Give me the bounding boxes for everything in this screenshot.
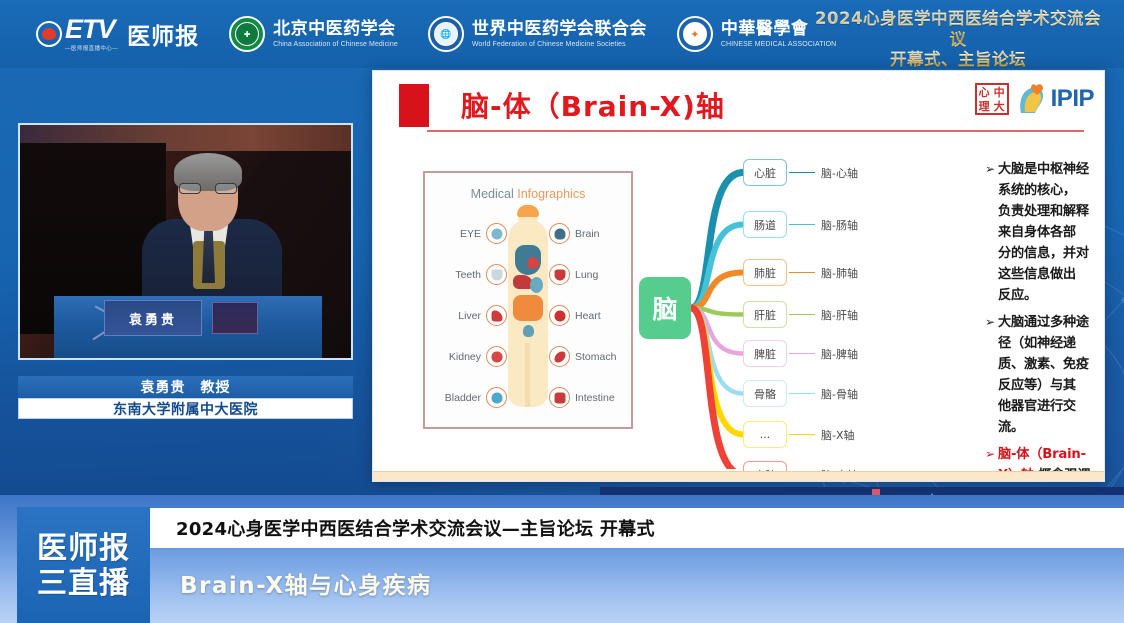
medical-infographic-card: Medical Infographics EYE Teeth Liver — [423, 171, 633, 429]
bullet-text: 大脑是中枢神经系统的核心，负责处理和解释来自身体各部分的信息，并对这些信息做出反… — [998, 159, 1101, 306]
event-title-bar: 2024心身医学中西医结合学术交流会议—主旨论坛 开幕式 — [150, 508, 1124, 548]
infographic-item-liver: Liver — [433, 295, 507, 336]
bullet-text: 大脑通过多种途径（如神经递质、激素、免疫反应等）与其他器官进行交流。 — [998, 312, 1101, 438]
mindmap-leaf-label-5: 脑-脾轴 — [821, 346, 858, 362]
mindmap-leaf-connector-4 — [789, 314, 815, 316]
mindmap-node-7: ... — [743, 421, 787, 448]
body-bladder — [523, 325, 534, 337]
body-heart — [527, 257, 539, 269]
infographic-item-kidney: Kidney — [433, 336, 507, 377]
infographic-left-column: EYE Teeth Liver Kidney — [433, 213, 507, 418]
bullet-line: 他器官进行交流。 — [998, 396, 1101, 438]
infographic-item-teeth: Teeth — [433, 254, 507, 295]
zhongda-psych-seal-icon: 心 中 理 大 — [975, 83, 1009, 115]
infographic-item-intestine: Intestine — [549, 377, 623, 418]
conference-title-line2: 开幕式、主旨论坛 — [808, 50, 1108, 71]
mindmap-leaf-connector-1 — [789, 172, 815, 174]
infographic-label: Heart — [575, 310, 601, 322]
body-hair — [517, 205, 539, 217]
presentation-slide[interactable]: 脑-体（Brain-X)轴 心 中 理 大 IPIP Medic — [372, 70, 1105, 482]
mindmap-leaf-label-6: 脑-骨轴 — [821, 386, 858, 402]
mindmap-leaf-connector-7 — [789, 434, 815, 436]
channel-badge-line1: 医师报 — [37, 533, 130, 565]
infographic-item-bladder: Bladder — [433, 377, 507, 418]
infographic-label: Bladder — [445, 392, 481, 404]
seal-char-3: 大 — [992, 99, 1007, 113]
slide-brand-logos: 心 中 理 大 IPIP — [975, 83, 1094, 115]
mindmap-leaf-label-2: 脑-肠轴 — [821, 217, 858, 233]
infographic-item-stomach: Stomach — [549, 336, 623, 377]
slide-bullet-list: ➢大脑是中枢神经系统的核心，负责处理和解释来自身体各部分的信息，并对这些信息做出… — [985, 159, 1101, 482]
etv-play-icon — [36, 21, 62, 47]
etv-chinese-name: 医师报 — [127, 17, 199, 51]
lectern-secondary-sign — [212, 302, 258, 334]
speaker-nameplate: 袁勇贵 教授 东南大学附属中大医院 — [18, 376, 353, 419]
slide-footer-bar — [373, 471, 1104, 481]
body-legs — [525, 343, 530, 407]
seal-char-1: 中 — [992, 85, 1007, 99]
mindmap-node-5: 脾脏 — [743, 340, 787, 367]
logo-wfcms: 🌐 世界中医药学会联合会 World Federation of Chinese… — [428, 16, 647, 52]
infographic-label: Lung — [575, 269, 598, 281]
beijing-tcm-seal-icon: ✚ — [229, 16, 265, 52]
event-title-text: 2024心身医学中西医结合学术交流会议—主旨论坛 开幕式 — [176, 515, 655, 541]
wfcms-seal-icon: 🌐 — [428, 16, 464, 52]
broadcast-lower-third: 医师报 三直播 2024心身医学中西医结合学术交流会议—主旨论坛 开幕式 Bra… — [0, 495, 1124, 623]
speaker-video[interactable]: 袁勇贵 — [18, 123, 353, 360]
speaker-affiliation: 东南大学附属中大医院 — [18, 398, 353, 419]
infographic-right-column: Brain Lung Heart Stomach — [549, 213, 623, 418]
talk-title-text: Brain-X轴与心身疾病 — [180, 566, 432, 600]
ipip-wordmark: IPIP — [1051, 85, 1094, 113]
bullet-line: 质、激素、免疫反应等）与其 — [998, 354, 1101, 396]
stomach-icon — [549, 346, 570, 367]
heart-icon — [549, 305, 570, 326]
bullet-line: 大脑通过多种途径（如神经递 — [998, 312, 1101, 354]
mindmap-node-2: 肠道 — [743, 211, 787, 238]
slide-bullet-2: ➢大脑通过多种途径（如神经递质、激素、免疫反应等）与其他器官进行交流。 — [985, 312, 1101, 438]
channel-badge[interactable]: 医师报 三直播 — [17, 507, 150, 623]
slide-bullet-1: ➢大脑是中枢神经系统的核心，负责处理和解释来自身体各部分的信息，并对这些信息做出… — [985, 159, 1101, 306]
infographic-label: Teeth — [455, 269, 481, 281]
infographic-label: Stomach — [575, 351, 616, 363]
mindmap-leaf-connector-2 — [789, 224, 815, 226]
body-intestine — [513, 295, 543, 321]
infographic-item-brain: Brain — [549, 213, 623, 254]
lectern-nameplate: 袁勇贵 — [104, 300, 202, 336]
infographic-label: Kidney — [449, 351, 481, 363]
talk-title-bar: Brain-X轴与心身疾病 — [150, 557, 1124, 609]
bullet-line: 大脑是中枢神经系统的核心， — [998, 159, 1101, 201]
mindmap-node-3: 肺脏 — [743, 259, 787, 286]
channel-badge-line2: 三直播 — [37, 568, 130, 600]
mindmap-leaf-label-7: 脑-X轴 — [821, 427, 855, 443]
brain-axis-mindmap: 脑 心脏脑-心轴肠道脑-肠轴肺脏脑-肺轴肝脏脑-肝轴脾脏脑-脾轴骨骼脑-骨轴..… — [631, 149, 971, 469]
infographic-title-a: Medical — [471, 187, 518, 201]
body-stomach — [530, 277, 543, 293]
broadcast-stage: ETV —医师报直播中心— 医师报 ✚ 北京中医药学会 China Associ… — [0, 0, 1124, 623]
brain-icon — [549, 223, 570, 244]
human-body-diagram — [500, 205, 556, 413]
beijing-tcm-name-en: China Association of Chinese Medicine — [273, 41, 398, 48]
slide-title-rule — [427, 130, 1084, 132]
mindmap-leaf-connector-5 — [789, 353, 815, 355]
infographic-label: Brain — [575, 228, 600, 240]
bullet-marker-icon: ➢ — [985, 312, 998, 438]
bullet-marker-icon: ➢ — [985, 159, 998, 306]
lung-icon — [549, 264, 570, 285]
beijing-tcm-name-cn: 北京中医药学会 — [273, 20, 398, 39]
mindmap-leaf-label-3: 脑-肺轴 — [821, 265, 858, 281]
mindmap-leaf-label-4: 脑-肝轴 — [821, 307, 858, 323]
conference-title-line1: 2024心身医学中西医结合学术交流会议 — [808, 9, 1108, 50]
wfcms-name-en: World Federation of Chinese Medicine Soc… — [472, 41, 647, 48]
slide-title-accent-block — [399, 84, 429, 127]
mindmap-leaf-label-1: 脑-心轴 — [821, 165, 858, 181]
etv-sub-label: —医师报直播中心— — [65, 44, 118, 52]
bullet-line: 负责处理和解释来自身体各部 — [998, 201, 1101, 243]
mindmap-node-4: 肝脏 — [743, 301, 787, 328]
ipip-head-heart-icon — [1017, 83, 1047, 115]
infographic-title-b: Infographics — [517, 187, 585, 201]
bullet-line: 反应。 — [998, 285, 1101, 306]
header-logo-bar: ETV —医师报直播中心— 医师报 ✚ 北京中医药学会 China Associ… — [0, 0, 1124, 68]
infographic-title: Medical Infographics — [431, 187, 625, 201]
lectern-name-text: 袁勇贵 — [129, 309, 177, 328]
infographic-item-eye: EYE — [433, 213, 507, 254]
conference-title: 2024心身医学中西医结合学术交流会议 开幕式、主旨论坛 — [808, 9, 1108, 71]
intestine-icon — [549, 387, 570, 408]
mindmap-node-1: 心脏 — [743, 159, 787, 186]
seal-char-0: 心 — [977, 85, 992, 99]
infographic-body: EYE Teeth Liver Kidney — [431, 205, 625, 415]
slide-title: 脑-体（Brain-X)轴 — [461, 85, 725, 125]
infographic-label: Liver — [458, 310, 481, 322]
mindmap-root-node: 脑 — [639, 277, 691, 339]
infographic-item-heart: Heart — [549, 295, 623, 336]
ipip-logo: IPIP — [1017, 83, 1094, 115]
mindmap-leaf-connector-6 — [789, 393, 815, 395]
bullet-line: 分的信息，并对这些信息做出 — [998, 243, 1101, 285]
logo-etv: ETV —医师报直播中心— 医师报 — [36, 16, 199, 52]
wfcms-name-cn: 世界中医药学会联合会 — [472, 20, 647, 39]
mindmap-leaf-connector-3 — [789, 272, 815, 274]
infographic-item-lung: Lung — [549, 254, 623, 295]
speaker-glasses-icon — [179, 183, 237, 195]
logo-beijing-tcm: ✚ 北京中医药学会 China Association of Chinese M… — [229, 16, 398, 52]
infographic-label: Intestine — [575, 392, 615, 404]
mindmap-node-6: 骨骼 — [743, 380, 787, 407]
seal-char-2: 理 — [977, 99, 992, 113]
cma-seal-icon: ✦ — [677, 16, 713, 52]
infographic-label: EYE — [460, 228, 481, 240]
etv-wordmark: ETV — [65, 16, 118, 43]
speaker-name: 袁勇贵 教授 — [18, 376, 353, 398]
